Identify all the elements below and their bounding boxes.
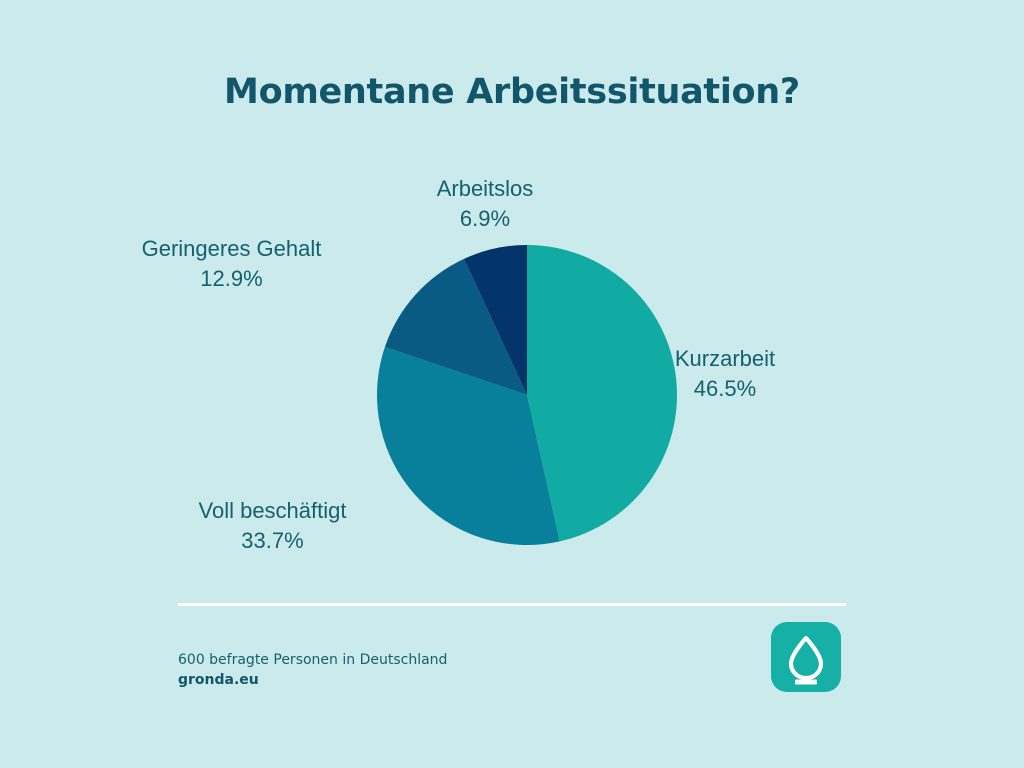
page-title: Momentane Arbeitssituation? [0, 72, 1024, 112]
footer-source-text: 600 befragte Personen in Deutschland [178, 650, 447, 670]
pie-label-arbeitslos-percent: 6.9% [355, 204, 615, 234]
pie-label-voll-beschaeftigt: Voll beschäftigt 33.7% [145, 496, 400, 556]
droplet-icon [771, 622, 841, 692]
footer-divider [178, 603, 846, 606]
pie-label-kurzarbeit-name: Kurzarbeit [625, 344, 825, 374]
pie-label-geringeres-gehalt-percent: 12.9% [80, 264, 383, 294]
infographic-canvas: Momentane Arbeitssituation? Arbeitslos 6… [0, 0, 1024, 768]
pie-label-kurzarbeit-percent: 46.5% [625, 374, 825, 404]
pie-label-kurzarbeit: Kurzarbeit 46.5% [625, 344, 825, 404]
pie-label-arbeitslos: Arbeitslos 6.9% [355, 174, 615, 234]
pie-label-voll-beschaeftigt-name: Voll beschäftigt [145, 496, 400, 526]
footer-website: gronda.eu [178, 670, 447, 690]
gronda-droplet-logo [771, 622, 841, 692]
pie-label-geringeres-gehalt: Geringeres Gehalt 12.9% [80, 234, 383, 294]
pie-label-arbeitslos-name: Arbeitslos [355, 174, 615, 204]
pie-label-geringeres-gehalt-name: Geringeres Gehalt [80, 234, 383, 264]
footer-caption: 600 befragte Personen in Deutschland gro… [178, 650, 447, 690]
pie-label-voll-beschaeftigt-percent: 33.7% [145, 526, 400, 556]
